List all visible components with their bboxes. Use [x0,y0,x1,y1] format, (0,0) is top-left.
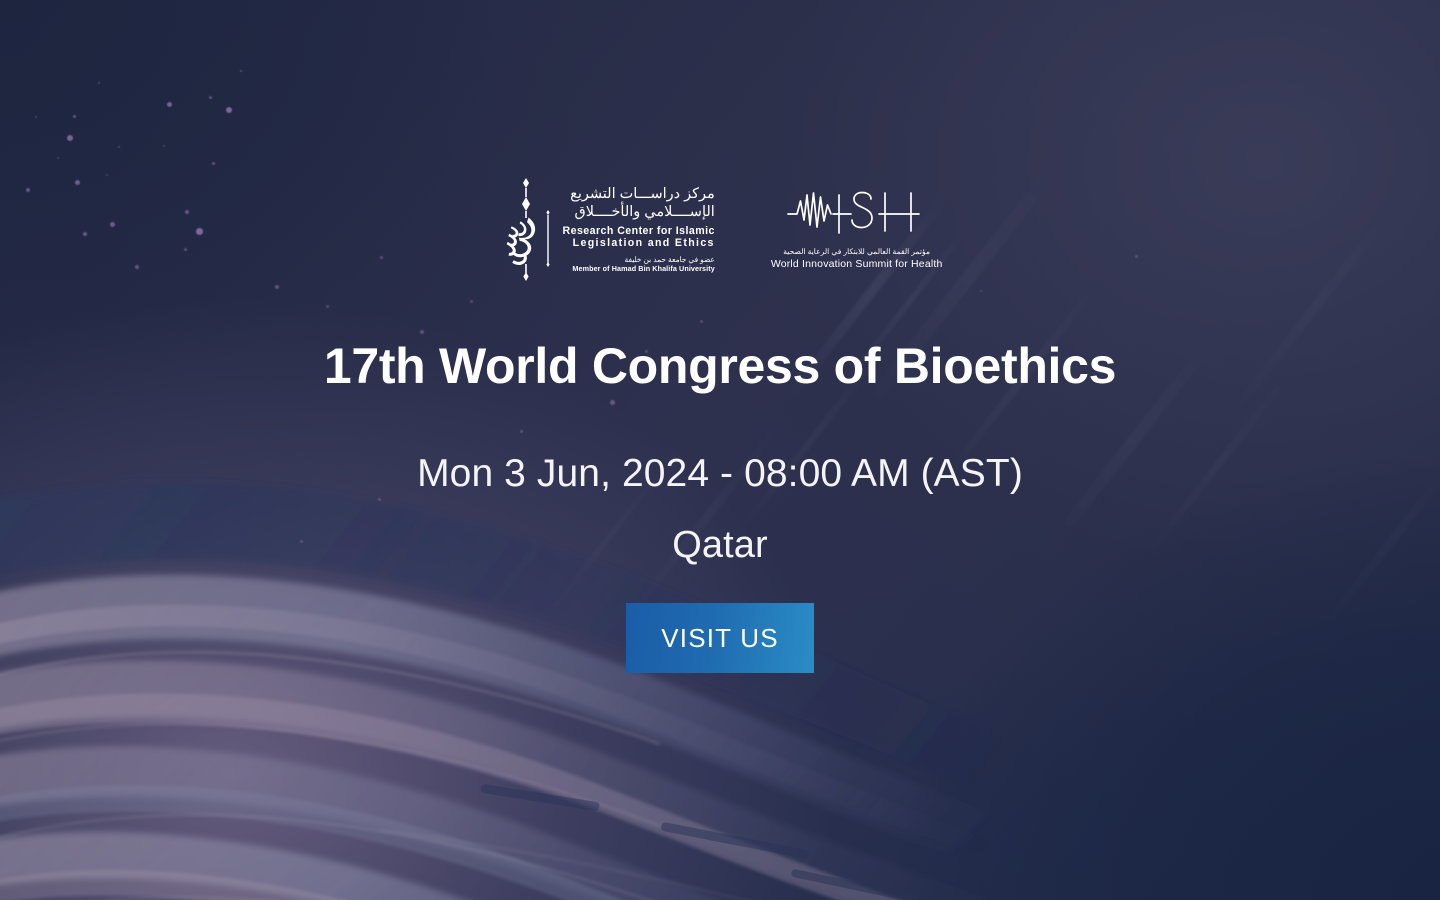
cile-calligraphy-icon [498,176,554,284]
cile-arabic-line-1: مركز دراســـات التشريع [570,186,715,203]
wish-waveform-icon [787,187,927,239]
wish-arabic-tagline: مؤتمر القمة العالمي للابتكار في الرعاية … [783,247,930,256]
banner-content: مركز دراســـات التشريع الإســــلامي والأ… [0,0,1440,900]
cile-member-arabic: عضو في جامعة حمد بن خليفة [625,256,715,265]
visit-us-button[interactable]: VISIT US [626,603,814,673]
wish-english-tagline: World Innovation Summit for Health [771,258,943,270]
event-banner: مركز دراســـات التشريع الإســــلامي والأ… [0,0,1440,900]
cile-arabic-line-2: الإســــلامي والأخــــلاق [575,204,715,221]
event-title: 17th World Congress of Bioethics [324,340,1116,393]
event-location: Qatar [672,524,768,567]
logo-row: مركز دراســـات التشريع الإســــلامي والأ… [498,172,943,288]
event-datetime: Mon 3 Jun, 2024 - 08:00 AM (AST) [417,452,1023,496]
cile-logo: مركز دراســـات التشريع الإســــلامي والأ… [498,174,715,286]
cile-member-english: Member of Hamad Bin Khalifa University [572,265,714,273]
cile-english-line-2: Legislation and Ethics [573,237,715,250]
cile-english-line-1: Research Center for Islamic [563,225,715,238]
wish-logo: مؤتمر القمة العالمي للابتكار في الرعاية … [771,172,943,288]
cile-logo-text: مركز دراســـات التشريع الإســــلامي والأ… [563,186,715,273]
